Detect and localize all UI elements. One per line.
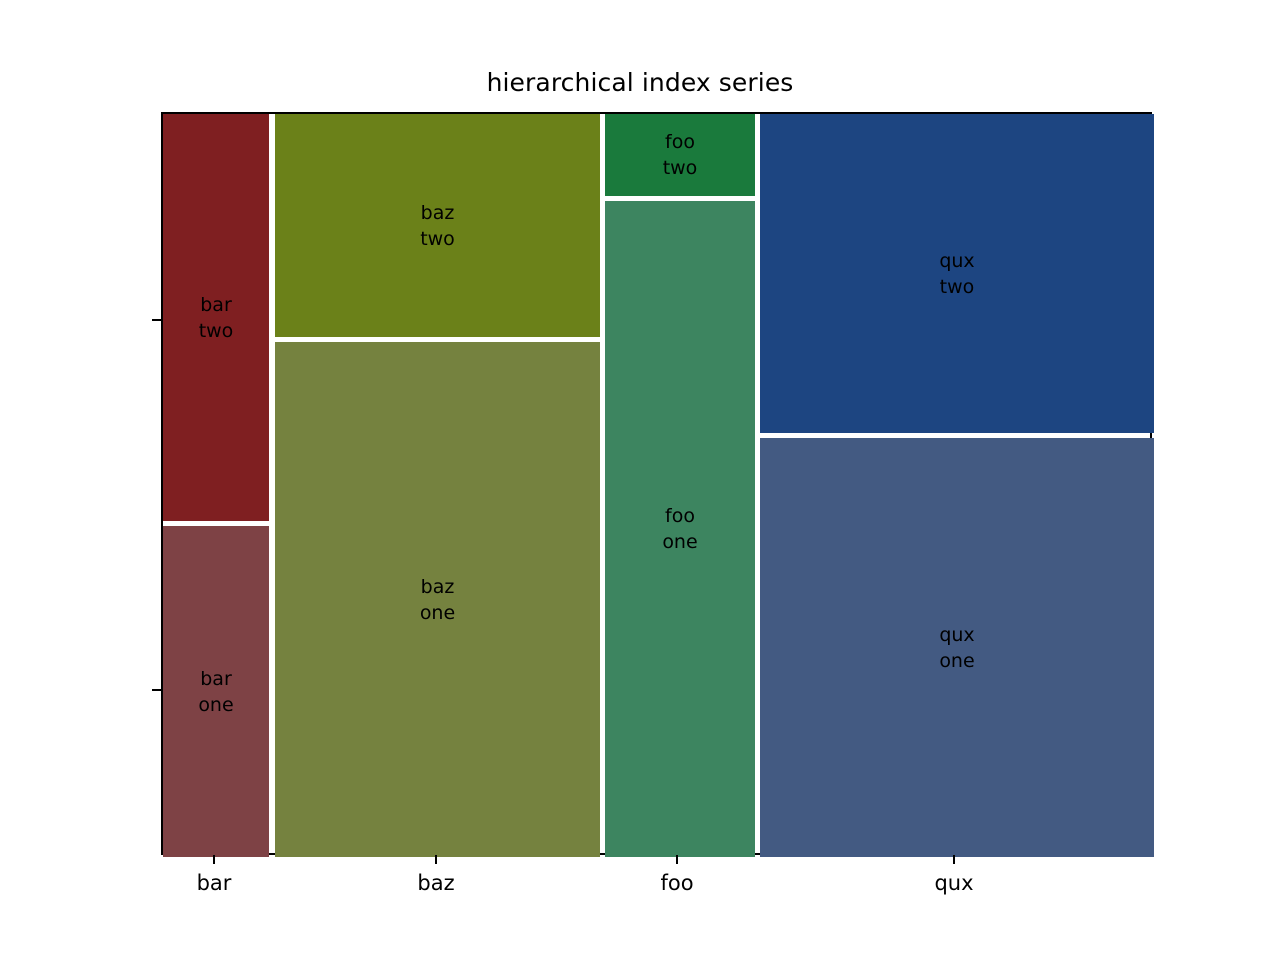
x-tick-label: qux (834, 869, 1074, 897)
mosaic-tile-label: baz one (420, 574, 455, 626)
mosaic-tile-label: bar two (199, 292, 234, 344)
plot-area: bar twobar onebaz twobaz onefoo twofoo o… (161, 112, 1152, 855)
x-tick-mark (953, 855, 955, 864)
mosaic-tile-label: foo two (663, 129, 698, 181)
mosaic-tile-baz-one[interactable]: baz one (275, 342, 600, 857)
y-tick-mark (152, 689, 161, 691)
chart-title: hierarchical index series (0, 68, 1280, 98)
mosaic-tile-label: baz two (420, 200, 455, 252)
x-tick-mark (213, 855, 215, 864)
figure-canvas: hierarchical index series bar twobar one… (0, 0, 1280, 960)
mosaic-tile-qux-two[interactable]: qux two (760, 114, 1154, 433)
mosaic-tiles-container: bar twobar onebaz twobaz onefoo twofoo o… (163, 114, 1150, 853)
mosaic-tile-foo-two[interactable]: foo two (605, 114, 755, 196)
mosaic-tile-qux-one[interactable]: qux one (760, 438, 1154, 857)
mosaic-tile-bar-one[interactable]: bar one (163, 526, 269, 857)
x-tick-mark (435, 855, 437, 864)
x-tick-mark (676, 855, 678, 864)
x-tick-label: foo (557, 869, 797, 897)
mosaic-tile-label: qux one (939, 622, 974, 674)
mosaic-tile-label: bar one (198, 666, 233, 718)
mosaic-tile-label: qux two (939, 248, 974, 300)
x-tick-label: baz (316, 869, 556, 897)
mosaic-tile-label: foo one (662, 503, 697, 555)
x-tick-label: bar (94, 869, 334, 897)
mosaic-tile-bar-two[interactable]: bar two (163, 114, 269, 521)
mosaic-tile-foo-one[interactable]: foo one (605, 201, 755, 857)
mosaic-tile-baz-two[interactable]: baz two (275, 114, 600, 337)
y-tick-mark (152, 319, 161, 321)
